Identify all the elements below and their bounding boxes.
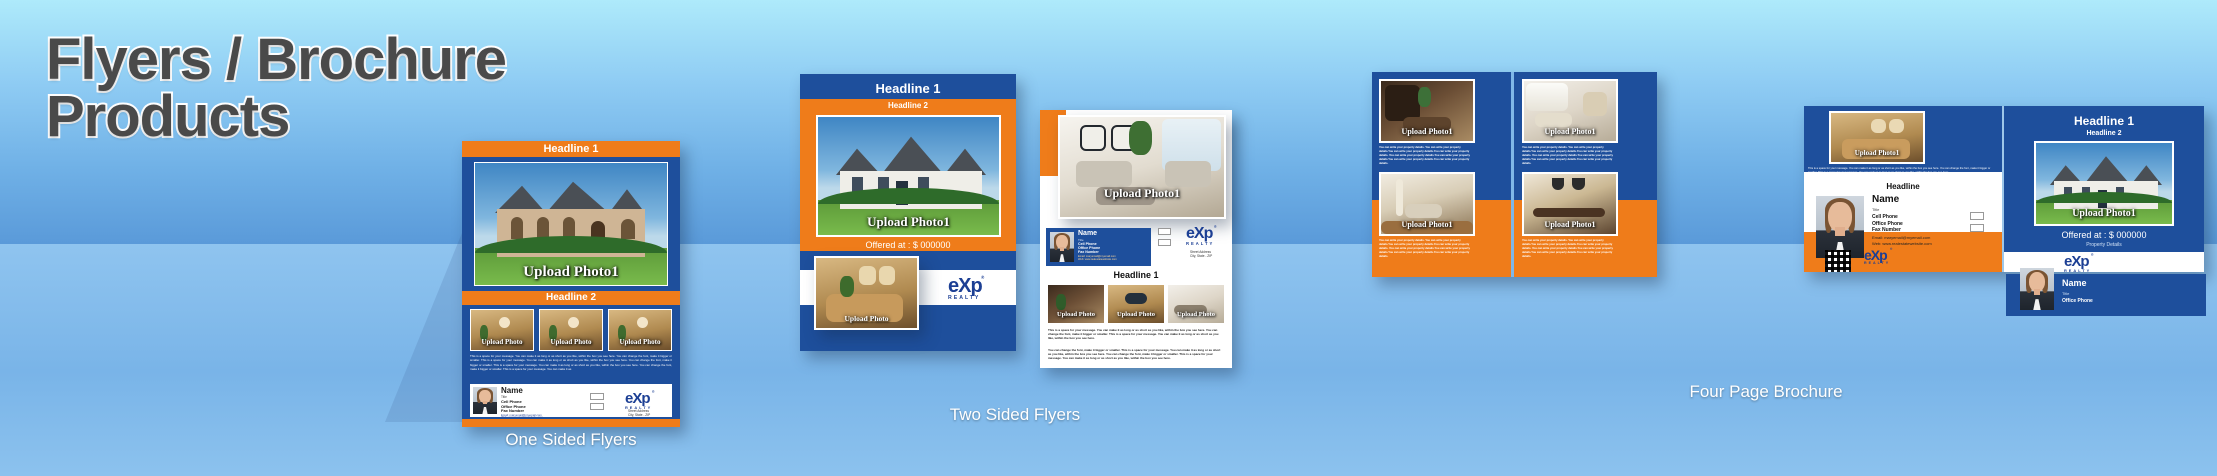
caption-one-sided-flyers: One Sided Flyers <box>411 430 731 450</box>
photo-fireplace <box>1583 92 1607 116</box>
photo-pendant <box>1552 178 1565 190</box>
brochure-cover-panel[interactable]: Headline 1 Headline 2 Upload Photo1 Offe… <box>2004 106 2204 272</box>
exp-realty-logo: eXp® REALTY <box>625 391 652 410</box>
logo-slot-1[interactable] <box>1158 228 1171 235</box>
avatar-neck <box>1835 227 1845 236</box>
logo-slot-2[interactable] <box>590 403 604 410</box>
brochure-photo[interactable]: Upload Photo1 <box>1379 79 1475 143</box>
headline1-bar: Headline 1 <box>462 141 680 157</box>
avatar-shirt <box>480 407 491 414</box>
tsf-headline1: Headline 1 <box>800 81 1016 96</box>
trademark-icon: ® <box>1214 226 1216 230</box>
hero-photo-label: Upload Photo1 <box>475 264 667 281</box>
exp-realty-logo: eXp® REALTY <box>1864 248 1890 266</box>
exp-logo-sub: REALTY <box>1864 262 1890 266</box>
tsb-headline1: Headline 1 <box>1040 270 1232 280</box>
photo-closet <box>1385 85 1420 121</box>
brochure-photo-label: Upload Photo1 <box>1524 220 1616 229</box>
footer-bar <box>462 419 680 427</box>
thumbnail[interactable]: Upload Photo <box>1108 285 1164 323</box>
thumbnail-label: Upload Photo <box>1048 311 1104 318</box>
thumbnail-label: Upload Photo <box>609 338 671 346</box>
brochure-photo-details: You can write your property details. You… <box>1379 146 1475 168</box>
photo-sofa <box>1405 204 1442 218</box>
photo-windows <box>1526 83 1568 111</box>
agent-name: Name <box>2062 278 2087 288</box>
tsf-thumbnail-label: Upload Photo <box>816 314 917 323</box>
agent-headshot <box>473 387 497 414</box>
photo-pendant <box>1572 178 1585 190</box>
thumbnail[interactable]: Upload Photo <box>1048 285 1104 323</box>
agent-headshot <box>2020 268 2054 310</box>
thumbnail[interactable]: Upload Photo <box>1168 285 1224 323</box>
tsb-body-text: This is a space for your message. You ca… <box>1048 328 1224 345</box>
photo-plant <box>1129 121 1152 155</box>
logo-slot-2[interactable] <box>1158 239 1171 246</box>
avatar-shirt <box>2030 299 2045 310</box>
panel-photo[interactable]: Upload Photo1 <box>1829 111 1925 164</box>
exp-realty-logo: eXp® REALTY <box>1186 226 1214 246</box>
agent-fax-number: Fax Number <box>1872 227 1901 233</box>
brochure-outside-spread[interactable]: Upload Photo1 This is a space for your m… <box>1804 106 2204 272</box>
photo-window <box>621 219 635 239</box>
photo-art <box>1871 119 1886 133</box>
brochure-photo[interactable]: Upload Photo1 <box>1522 172 1618 236</box>
page-title-line2: Products <box>46 89 566 146</box>
photo-plant <box>1418 87 1431 107</box>
agent-office-phone: Office Phone <box>1872 221 1903 227</box>
avatar-neck <box>483 401 488 405</box>
tsf-hero-photo-label: Upload Photo1 <box>818 214 999 230</box>
brochure-photo-label: Upload Photo1 <box>1381 127 1473 136</box>
thumbnail-row: Upload Photo Upload Photo Upload Photo <box>470 309 672 351</box>
photo-art <box>1889 119 1904 133</box>
hero-photo[interactable]: Upload Photo1 <box>474 162 668 286</box>
tsb-body-text-2: You can change the font, make it bigger … <box>1048 348 1224 365</box>
cover-headline2: Headline 2 <box>2004 130 2204 137</box>
brochure-photo-details: You can write your property details. You… <box>1522 146 1618 168</box>
brochure-inside-page-right[interactable]: Upload Photo1 You can write your propert… <box>1514 72 1657 277</box>
thumbnail-label: Upload Photo <box>1168 311 1224 318</box>
flyer-two-sided-back[interactable]: Upload Photo1 Name Title Cell Phone Offi… <box>1040 110 1232 368</box>
photo-sofa <box>1165 161 1211 187</box>
exp-logo-text: eXp <box>948 275 982 297</box>
agent-cell-phone: Cell Phone <box>1872 214 1898 220</box>
agent-title: Title <box>2062 291 2069 296</box>
tsb-hero-photo-label: Upload Photo1 <box>1060 186 1224 201</box>
exp-realty-logo: eXp® REALTY <box>948 276 982 301</box>
brochure-inside-page-left[interactable]: Upload Photo1 You can write your propert… <box>1372 72 1511 277</box>
thumbnail[interactable]: Upload Photo <box>608 309 672 351</box>
page-title-line1: Flyers / Brochure <box>46 32 566 89</box>
agent-card: Name Title Cell Phone Office Phone Fax N… <box>470 384 672 417</box>
caption-four-page-brochure: Four Page Brochure <box>1606 382 1926 402</box>
thumb-screen <box>1125 293 1147 304</box>
logo-slot-1[interactable] <box>590 393 604 400</box>
panel-body-text: This is a space for your message. You ca… <box>1808 167 1998 180</box>
panel-photo-label: Upload Photo1 <box>1831 149 1923 157</box>
trademark-icon: ® <box>981 276 983 280</box>
product-one-sided-flyers[interactable]: Headline 1 Upload Photo1 Headline 2 <box>462 141 680 427</box>
avatar-neck <box>1060 247 1065 251</box>
tsb-agent-card: Name Title Cell Phone Office Phone Fax N… <box>1046 228 1151 266</box>
thumb-plant <box>1056 294 1066 310</box>
headline2-bar: Headline 2 <box>462 291 680 305</box>
body-text: This is a space for your message. You ca… <box>470 354 672 382</box>
agent-office-phone: Office Phone <box>2062 298 2093 304</box>
tsf-headline2: Headline 2 <box>800 101 1016 110</box>
headline2-text: Headline 2 <box>462 291 680 305</box>
cover-headline1: Headline 1 <box>2004 114 2204 128</box>
agent-name: Name <box>1872 194 1899 205</box>
thumbnail-label: Upload Photo <box>471 338 533 346</box>
brochure-photo-details: You can write your property details. You… <box>1522 239 1618 261</box>
trademark-icon: ® <box>1890 248 1891 251</box>
headline1-text: Headline 1 <box>462 141 680 157</box>
photo-sofa <box>1076 161 1132 187</box>
cover-hero-photo[interactable]: Upload Photo1 <box>2034 141 2174 226</box>
agent-headshot <box>1050 232 1074 262</box>
office-city-state-zip: City, State - ZIP <box>628 413 650 417</box>
photo-column <box>1396 179 1403 216</box>
logo-slot-2[interactable] <box>1970 224 1984 232</box>
tsf-price: Offered at : $ 000000 <box>800 240 1016 250</box>
office-city-state-zip: City, State - ZIP <box>1190 254 1212 258</box>
brochure-photo-label: Upload Photo1 <box>1381 220 1473 229</box>
agent-headshot <box>1816 196 1864 258</box>
exp-logo-sub: REALTY <box>2064 269 2091 272</box>
exp-logo-sub: REALTY <box>1186 242 1214 246</box>
avatar-shirt <box>1057 254 1068 262</box>
thumb-art <box>859 266 875 284</box>
brochure-photo-details: You can write your property details. You… <box>1379 239 1475 261</box>
agent-fax-number: Fax Number <box>1078 250 1099 254</box>
tsf-thumbnail[interactable]: Upload Photo <box>814 256 919 330</box>
agent-name: Name <box>501 386 523 395</box>
brochure-cover-agent-block[interactable]: Name Title Office Phone <box>2006 274 2206 316</box>
agent-title: Title <box>1872 207 1879 212</box>
thumbnail-label: Upload Photo <box>540 338 602 346</box>
avatar-neck <box>2034 289 2041 295</box>
caption-two-sided-flyers: Two Sided Flyers <box>855 405 1175 425</box>
agent-email: Email: maryemail@myemail.com <box>1872 235 1930 240</box>
brochure-photo[interactable]: Upload Photo1 <box>1379 172 1475 236</box>
flyer-one-sided[interactable]: Headline 1 Upload Photo1 Headline 2 <box>462 141 680 427</box>
thumbnail[interactable]: Upload Photo <box>539 309 603 351</box>
thumbnail-label: Upload Photo <box>1108 311 1164 318</box>
agent-name: Name <box>1078 230 1097 237</box>
qr-code[interactable] <box>1825 250 1851 272</box>
agent-web: Web: www.realestatewebsite.com <box>1078 258 1117 261</box>
brochure-inside-spread[interactable]: Upload Photo1 You can write your propert… <box>1372 72 1657 277</box>
thumb-plant <box>840 276 854 297</box>
tsf-hero-photo[interactable]: Upload Photo1 <box>816 115 1001 237</box>
tsb-thumbnail-row: Upload Photo Upload Photo Upload Photo <box>1048 285 1224 323</box>
trademark-icon: ® <box>652 391 653 394</box>
brochure-photo[interactable]: Upload Photo1 <box>1522 79 1618 143</box>
trademark-icon: ® <box>2091 254 2092 257</box>
flyer-two-sided-front[interactable]: Headline 1 Headline 2 Upload Photo1 Offe… <box>800 74 1016 351</box>
thumb-art <box>879 266 895 284</box>
photo-island <box>1533 208 1605 218</box>
tsb-hero-photo[interactable]: Upload Photo1 <box>1058 115 1226 219</box>
photo-sofa <box>1535 113 1572 126</box>
logo-slot-1[interactable] <box>1970 212 1984 220</box>
exp-logo-text: eXp <box>1186 225 1212 242</box>
exp-realty-logo: eXp® REALTY <box>2064 254 2091 272</box>
thumbnail[interactable]: Upload Photo <box>470 309 534 351</box>
cover-price: Offered at : $ 000000 <box>2004 230 2204 240</box>
exp-logo-sub: REALTY <box>948 296 982 301</box>
photo-art <box>1080 125 1106 151</box>
cover-property-details: Property Details <box>2004 242 2204 248</box>
panel-headline: Headline <box>1804 182 2002 191</box>
brochure-photo-label: Upload Photo1 <box>1524 127 1616 136</box>
brochure-agent-panel[interactable]: Upload Photo1 This is a space for your m… <box>1804 106 2002 272</box>
page-title: Flyers / Brochure Products <box>46 32 566 146</box>
cover-hero-photo-label: Upload Photo1 <box>2036 208 2172 219</box>
photo-window <box>511 217 523 239</box>
agent-web: Web: www.realestatewebsite.com <box>1872 241 1932 246</box>
